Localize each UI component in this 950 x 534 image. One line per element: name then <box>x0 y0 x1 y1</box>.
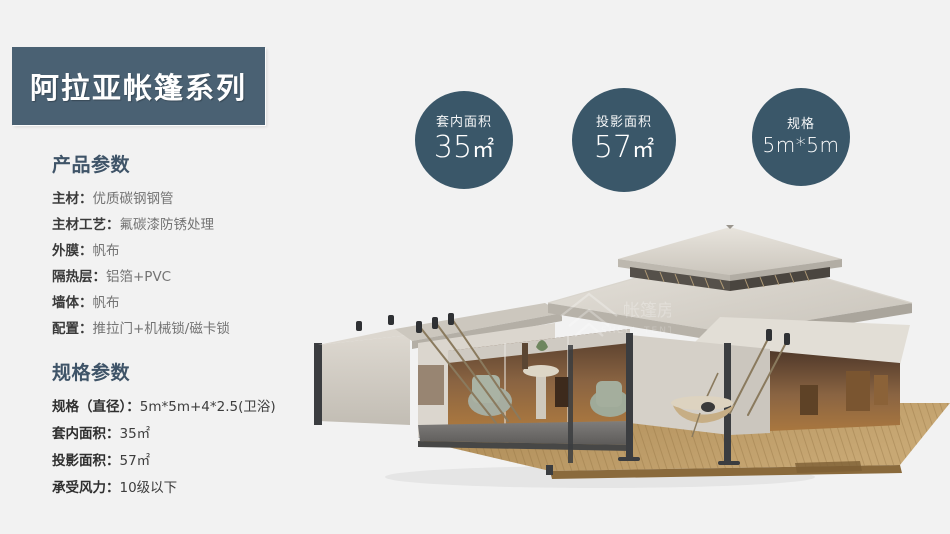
param-label: 主材工艺： <box>52 217 120 233</box>
badge-value: 5m*5m <box>763 134 840 156</box>
page-title: 阿拉亚帐篷系列 <box>30 65 247 107</box>
spec-label: 套内面积： <box>52 426 120 442</box>
spec-label: 投影面积： <box>52 453 120 469</box>
param-label: 隔热层： <box>52 269 106 285</box>
product-section-heading: 产品参数 <box>52 150 352 177</box>
param-label: 墙体： <box>52 295 93 311</box>
badge-value: 57㎡ <box>594 132 654 164</box>
param-value: 氟碳漆防锈处理 <box>120 217 215 233</box>
spec-value: 10级以下 <box>120 480 178 496</box>
badge-caption: 规格 <box>787 118 815 132</box>
param-value: 优质碳钢钢管 <box>93 191 174 207</box>
badge-value: 35㎡ <box>434 132 494 164</box>
param-value: 推拉门+机械锁/磁卡锁 <box>93 321 230 337</box>
spec-label: 承受风力： <box>52 480 120 496</box>
spec-value: 35㎡ <box>120 426 151 442</box>
badge-projected-area: 投影面积 57㎡ <box>572 88 676 192</box>
param-value: 帆布 <box>93 243 120 259</box>
list-item: 主材：优质碳钢钢管 <box>52 186 352 212</box>
badge-dimensions: 规格 5m*5m <box>752 88 850 186</box>
badge-caption: 投影面积 <box>596 116 652 130</box>
param-value: 帆布 <box>93 295 120 311</box>
badge-interior-area: 套内面积 35㎡ <box>415 91 513 189</box>
param-label: 主材： <box>52 191 93 207</box>
spec-value: 5m*5m+4*2.5(卫浴) <box>140 399 276 415</box>
param-value: 铝箔+PVC <box>106 269 171 285</box>
param-label: 外膜： <box>52 243 93 259</box>
tent-house-illustration <box>300 225 950 525</box>
badge-caption: 套内面积 <box>436 116 492 130</box>
spec-label: 规格（直径）： <box>52 399 140 415</box>
param-label: 配置： <box>52 321 93 337</box>
page-title-bar: 阿拉亚帐篷系列 <box>12 47 265 125</box>
spec-value: 57㎡ <box>120 453 151 469</box>
